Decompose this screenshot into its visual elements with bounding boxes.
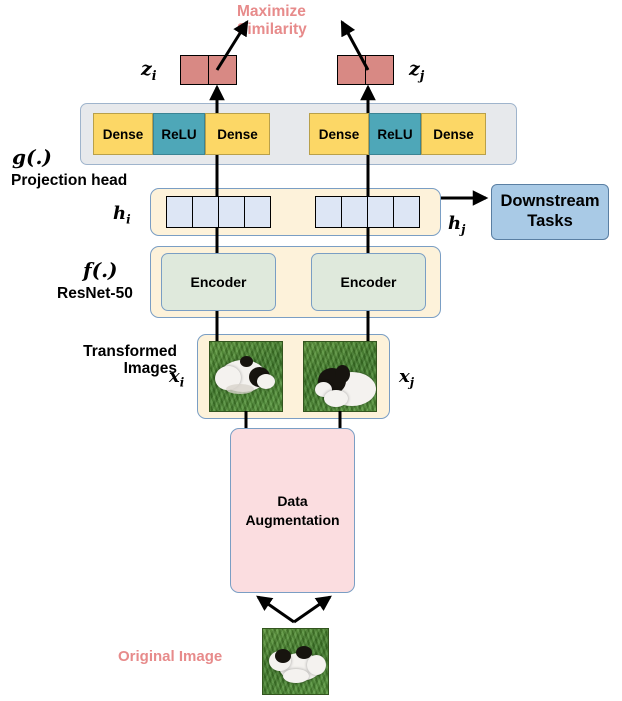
augmentation-line-1: Data: [277, 492, 307, 511]
z-vector-cell: [337, 55, 366, 85]
h-i-label: hi: [113, 203, 131, 227]
h-vector-cell: [393, 196, 420, 228]
h-vector-cell: [218, 196, 245, 228]
dog-tail: [257, 374, 275, 389]
x-i-label: xi: [169, 366, 184, 390]
transformed-images-caption: Transformed Images: [37, 343, 177, 378]
projection-right-dense-2: Dense: [421, 113, 486, 155]
h-vector-cell: [192, 196, 219, 228]
h-vector-cell: [315, 196, 342, 228]
z-i-vector: [180, 55, 237, 85]
original-image: [262, 628, 329, 695]
original-image-label: Original Image: [118, 648, 222, 665]
projection-left-dense-1: Dense: [93, 113, 153, 155]
encoder-symbol: f(.): [83, 258, 118, 282]
original-to-augmentation-arrow-right: [294, 597, 330, 622]
h-i-vector: [166, 196, 271, 228]
z-vector-cell: [208, 55, 237, 85]
projection-right-dense-1: Dense: [309, 113, 369, 155]
transformed-image-j: [303, 341, 377, 412]
dog-tail: [307, 655, 326, 675]
h-vector-cell: [166, 196, 193, 228]
downstream-line-2: Tasks: [527, 212, 573, 232]
dog-shadow: [226, 384, 254, 394]
projection-right-relu: ReLU: [369, 113, 421, 155]
h-vector-cell: [244, 196, 271, 228]
downstream-line-1: Downstream: [500, 192, 599, 212]
projection-head-name: Projection head: [11, 172, 127, 189]
dog-legs: [283, 669, 309, 683]
original-to-augmentation-arrow-left: [258, 597, 294, 622]
h-j-label: hj: [448, 213, 465, 237]
z-vector-cell: [180, 55, 209, 85]
dog-ear-patch: [240, 356, 253, 367]
x-j-label: xj: [399, 366, 414, 390]
data-augmentation-box: Data Augmentation: [230, 428, 355, 593]
h-vector-cell: [341, 196, 368, 228]
encoder-name: ResNet-50: [57, 285, 133, 302]
z-vector-cell: [365, 55, 394, 85]
dog-head-patch: [275, 649, 291, 663]
z-j-vector: [337, 55, 394, 85]
projection-left-relu: ReLU: [153, 113, 205, 155]
encoder-right-box: Encoder: [311, 253, 426, 311]
augmentation-line-2: Augmentation: [245, 511, 339, 530]
dog-ear: [335, 365, 350, 383]
downstream-tasks-box[interactable]: Downstream Tasks: [491, 184, 609, 240]
z-j-label: zj: [409, 58, 424, 83]
dog-chest: [324, 390, 348, 407]
h-vector-cell: [367, 196, 394, 228]
z-i-label: zi: [141, 58, 157, 83]
transformed-image-i: [209, 341, 283, 412]
maximize-similarity-label: Maximize Similarity: [237, 3, 387, 39]
encoder-left-box: Encoder: [161, 253, 276, 311]
diagram-canvas: Maximize Similarity zi zj Dense ReLU Den…: [0, 0, 622, 701]
projection-left-dense-2: Dense: [205, 113, 270, 155]
h-j-vector: [315, 196, 420, 228]
projection-head-symbol: g(.): [12, 145, 52, 169]
